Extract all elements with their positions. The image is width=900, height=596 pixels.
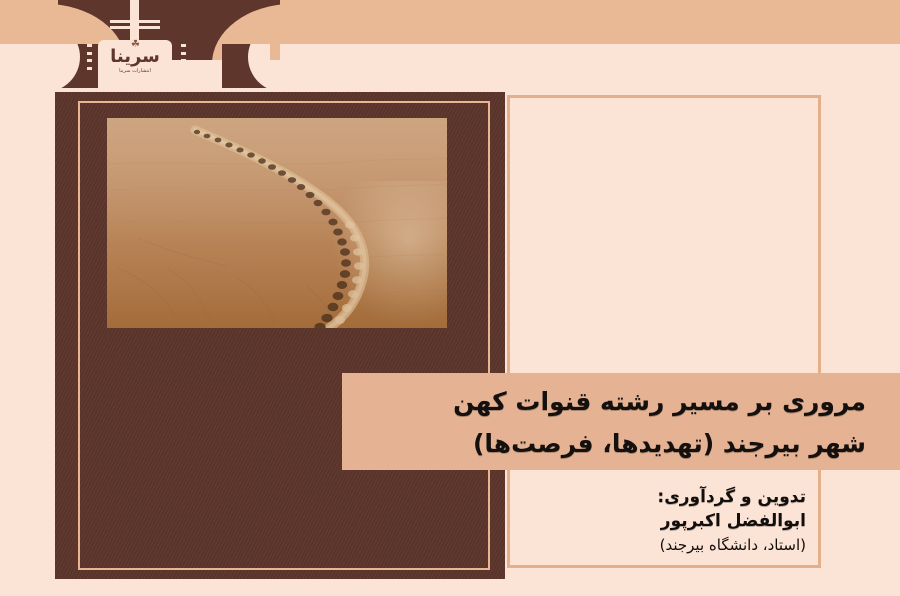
author-affiliation: (استاد، دانشگاه بیرجند) xyxy=(500,534,806,557)
book-title-line-2: شهر بیرجند (تهدیدها، فرصت‌ها) xyxy=(342,423,866,465)
arch-dots-right-icon xyxy=(180,44,186,70)
page-bottom-edge xyxy=(0,582,900,596)
finial-bar-upper-icon xyxy=(110,20,160,23)
arch-dots-left-icon xyxy=(86,44,92,70)
book-cover: ☘ سرینا انتشارات سرینا xyxy=(0,0,900,596)
author-block: تدوین و گردآوری: ابوالفضل اکبرپور (استاد… xyxy=(500,485,820,557)
publisher-logo-subtitle: انتشارات سرینا xyxy=(84,68,186,75)
book-title: مروری بر مسیر رشته قنوات کهن شهر بیرجند … xyxy=(342,381,882,465)
publisher-logo-name: سرینا xyxy=(96,48,174,66)
book-title-line-1: مروری بر مسیر رشته قنوات کهن xyxy=(342,381,866,423)
qanat-shaft-line-illustration xyxy=(107,118,447,328)
author-role-label: تدوین و گردآوری: xyxy=(500,485,806,509)
author-name: ابوالفضل اکبرپور xyxy=(500,509,806,534)
finial-bar-lower-icon xyxy=(110,26,160,29)
cover-photograph xyxy=(107,118,447,328)
arch-pier-right-icon xyxy=(222,44,270,88)
